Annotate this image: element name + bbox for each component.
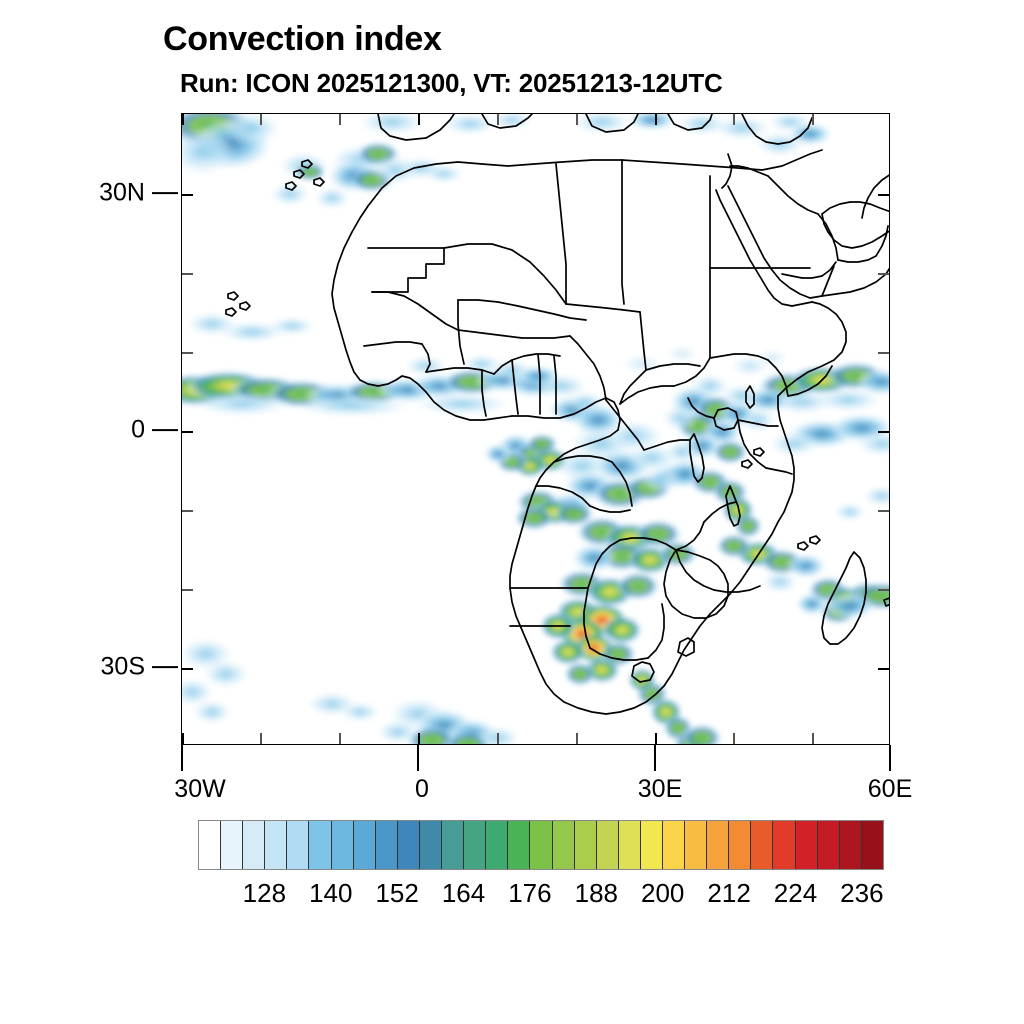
tick-right-10s [878, 510, 889, 512]
colorbar-cell [818, 821, 840, 869]
tick-top-50e [812, 114, 814, 125]
tick-bottom-10w [339, 733, 341, 744]
colorbar-cell [729, 821, 751, 869]
tick-bottom-10e [497, 733, 499, 744]
ytick-label-30s: 30S [0, 653, 145, 682]
colorbar-cell [354, 821, 376, 869]
tick-bottom-30e [655, 733, 657, 744]
map-plot-area [181, 113, 890, 745]
xtick-label-30e: 30E [638, 775, 682, 804]
colorbar-cell [641, 821, 663, 869]
tick-right-30s [878, 668, 889, 670]
tick-top-30w [182, 114, 184, 125]
tick-bottom-20e [576, 733, 578, 744]
colorbar-tick-label: 200 [641, 878, 684, 909]
ytick-label-30n: 30N [0, 179, 145, 208]
colorbar-cell [221, 821, 243, 869]
colorbar-cell [265, 821, 287, 869]
colorbar-tick-label: 212 [707, 878, 750, 909]
tick-left-30n [182, 194, 193, 196]
tick-right-0 [878, 431, 889, 433]
tick-right-10n [878, 352, 889, 354]
feature-sahel-wisps [620, 345, 700, 374]
xtick-stub-0 [417, 745, 419, 771]
tick-bottom-50e [812, 733, 814, 744]
colorbar-cell [486, 821, 508, 869]
tick-top-40e [733, 114, 735, 125]
colorbar-cell [530, 821, 552, 869]
tick-bottom-30w [182, 733, 184, 744]
colorbar-cell [553, 821, 575, 869]
xtick-stub-60e [889, 745, 891, 771]
colorbar-cell [309, 821, 331, 869]
tick-bottom-20w [260, 733, 262, 744]
feature-atlas-mountains [314, 142, 464, 209]
feature-atlantic-wisps [186, 312, 316, 343]
feature-mozambique [716, 534, 826, 593]
colorbar-cell [376, 821, 398, 869]
xtick-label-60e: 60E [868, 775, 912, 804]
colorbar-tick-label: 164 [442, 878, 485, 909]
tick-left-30s [182, 668, 193, 670]
colorbar-cell [243, 821, 265, 869]
tick-top-20e [576, 114, 578, 125]
colorbar [198, 820, 884, 870]
feature-itcz-indian-ocean [744, 362, 890, 456]
colorbar-cell [707, 821, 729, 869]
colorbar-cell [619, 821, 641, 869]
colorbar-cell [398, 821, 420, 869]
xtick-label-30w: 30W [174, 775, 225, 804]
tick-top-30e [655, 114, 657, 125]
xtick-stub-30w [181, 745, 183, 771]
tick-top-0 [418, 114, 420, 125]
colorbar-cell [663, 821, 685, 869]
xtick-stub-30e [654, 745, 656, 771]
xtick-label-0: 0 [415, 775, 429, 804]
tick-top-20w [260, 114, 262, 125]
colorbar-cell [685, 821, 707, 869]
feature-atlas-front [182, 114, 282, 176]
colorbar-cell [751, 821, 773, 869]
colorbar-cell [464, 821, 486, 869]
colorbar-cell [597, 821, 619, 869]
tick-bottom-40e [733, 733, 735, 744]
colorbar-tick-label: 152 [375, 878, 418, 909]
colorbar-cell [840, 821, 862, 869]
ytick-stub-30s [152, 666, 178, 668]
colorbar-cell [575, 821, 597, 869]
feature-zambia-zimbabwe [540, 517, 698, 686]
tick-left-10s [182, 510, 193, 512]
colorbar-cell [862, 821, 883, 869]
feature-sw-indian-scattered [834, 486, 890, 521]
colorbar-cell [442, 821, 464, 869]
colorbar-cell [199, 821, 221, 869]
tick-bottom-0 [418, 733, 420, 744]
colorbar-cell [796, 821, 818, 869]
page-title: Convection index [163, 20, 442, 59]
colorbar-tick-label: 236 [840, 878, 883, 909]
feature-south-atlantic [182, 638, 520, 745]
tick-left-20s [182, 589, 193, 591]
tick-right-20s [878, 589, 889, 591]
tick-top-10w [339, 114, 341, 125]
tick-right-20n [878, 273, 889, 275]
colorbar-tick-label: 140 [309, 878, 352, 909]
colorbar-tick-label: 224 [774, 878, 817, 909]
convection-map [182, 114, 890, 745]
colorbar-cell [287, 821, 309, 869]
tick-left-0 [182, 431, 193, 433]
ytick-stub-0 [152, 429, 178, 431]
ytick-stub-30n [152, 192, 178, 194]
tick-left-10n [182, 352, 193, 354]
tick-right-30n [878, 194, 889, 196]
colorbar-cell [332, 821, 354, 869]
tick-left-20n [182, 273, 193, 275]
colorbar-tick-label: 176 [508, 878, 551, 909]
tick-top-10e [497, 114, 499, 125]
chart-subtitle: Run: ICON 2025121300, VT: 20251213-12UTC [180, 68, 723, 99]
colorbar-cell [420, 821, 442, 869]
ytick-label-0: 0 [0, 416, 145, 445]
colorbar-labels: 128140152164176188200212224236 [198, 878, 884, 918]
colorbar-cell [508, 821, 530, 869]
colorbar-tick-label: 188 [575, 878, 618, 909]
colorbar-tick-label: 128 [243, 878, 286, 909]
colorbar-cell [773, 821, 795, 869]
